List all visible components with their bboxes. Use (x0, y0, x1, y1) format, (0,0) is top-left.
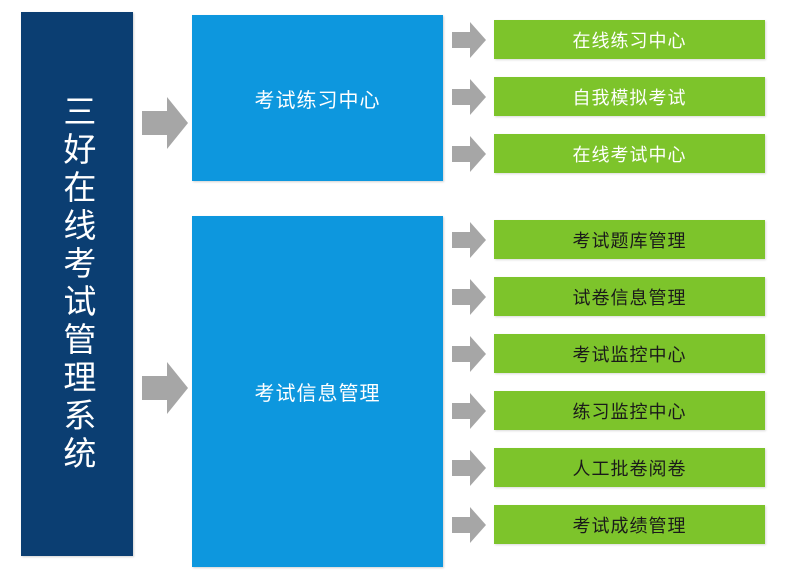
leaf-box-exam-score-management[interactable]: 考试成绩管理 (494, 505, 765, 544)
leaf-box-manual-grading[interactable]: 人工批卷阅卷 (494, 448, 765, 487)
leaf-label-online-practice-center: 在线练习中心 (573, 27, 687, 53)
arrow-to-leaf-question-bank-management (452, 222, 486, 258)
branch-box-exam-practice-center[interactable]: 考试练习中心 (192, 15, 443, 181)
leaf-label-exam-monitoring-center: 考试监控中心 (573, 341, 687, 367)
arrow-banner-to-exam-info-management (142, 362, 188, 414)
leaf-label-question-bank-management: 考试题库管理 (573, 227, 687, 253)
leaf-label-paper-info-management: 试卷信息管理 (573, 284, 687, 310)
leaf-box-question-bank-management[interactable]: 考试题库管理 (494, 220, 765, 259)
arrow-to-leaf-practice-monitoring-center (452, 393, 486, 429)
leaf-label-online-exam-center: 在线考试中心 (573, 141, 687, 167)
branch-label-exam-info-management: 考试信息管理 (255, 377, 381, 406)
diagram-canvas: 三好在线考试管理系统 考试练习中心 考试信息管理 在线练习中心 自我模拟考试 (0, 0, 788, 579)
branch-box-exam-info-management[interactable]: 考试信息管理 (192, 216, 443, 567)
arrow-to-leaf-exam-score-management (452, 507, 486, 543)
leaf-box-online-exam-center[interactable]: 在线考试中心 (494, 134, 765, 173)
arrow-banner-to-exam-practice-center (142, 97, 188, 149)
leaf-label-manual-grading: 人工批卷阅卷 (573, 455, 687, 481)
leaf-label-practice-monitoring-center: 练习监控中心 (573, 398, 687, 424)
system-title-banner: 三好在线考试管理系统 (21, 12, 133, 556)
leaf-box-exam-monitoring-center[interactable]: 考试监控中心 (494, 334, 765, 373)
arrow-to-leaf-manual-grading (452, 450, 486, 486)
branch-label-exam-practice-center: 考试练习中心 (255, 84, 381, 113)
leaf-box-online-practice-center[interactable]: 在线练习中心 (494, 20, 765, 59)
arrow-to-leaf-exam-monitoring-center (452, 336, 486, 372)
system-title-text: 三好在线考试管理系统 (59, 94, 95, 474)
leaf-box-self-mock-exam[interactable]: 自我模拟考试 (494, 77, 765, 116)
arrow-to-leaf-online-exam-center (452, 136, 486, 172)
leaf-label-self-mock-exam: 自我模拟考试 (573, 84, 687, 110)
leaf-label-exam-score-management: 考试成绩管理 (573, 512, 687, 538)
arrow-to-leaf-online-practice-center (452, 22, 486, 58)
arrow-to-leaf-paper-info-management (452, 279, 486, 315)
arrow-to-leaf-self-mock-exam (452, 79, 486, 115)
leaf-box-paper-info-management[interactable]: 试卷信息管理 (494, 277, 765, 316)
leaf-box-practice-monitoring-center[interactable]: 练习监控中心 (494, 391, 765, 430)
